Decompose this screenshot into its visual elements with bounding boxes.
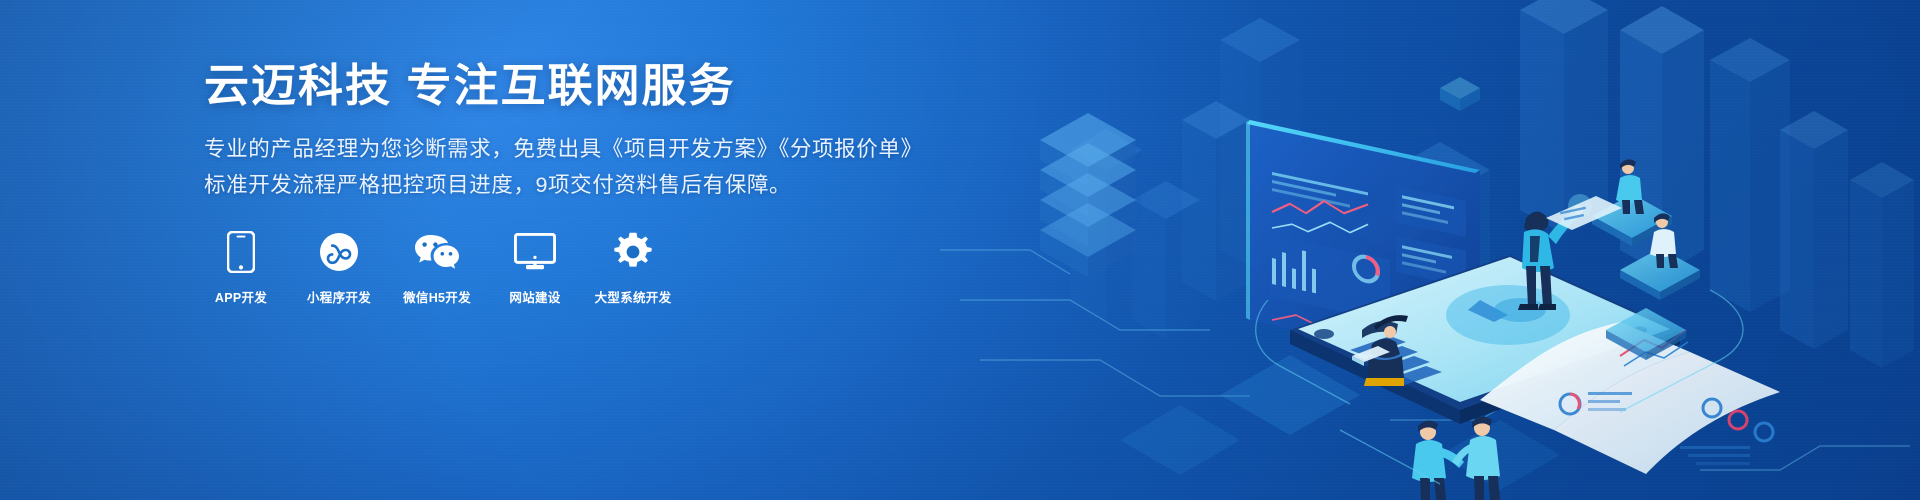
- subtitle-line-2: 标准开发流程严格把控项目进度，9项交付资料售后有保障。: [204, 167, 904, 203]
- smartphone-icon: [227, 229, 255, 275]
- page-title: 云迈科技 专注互联网服务: [204, 62, 904, 109]
- gear-icon: [613, 229, 653, 275]
- subtitle-block: 专业的产品经理为您诊断需求，免费出具《项目开发方案》《分项报价单》 标准开发流程…: [204, 131, 904, 203]
- two-figures: [1412, 416, 1500, 500]
- service-item-website[interactable]: 网站建设: [498, 229, 572, 306]
- mini-program-icon: [319, 229, 359, 275]
- accent-cubes: [1440, 77, 1480, 111]
- subtitle-line-1: 专业的产品经理为您诊断需求，免费出具《项目开发方案》《分项报价单》: [204, 131, 904, 167]
- service-list: APP开发 小程序开发: [204, 229, 904, 306]
- service-item-miniprogram[interactable]: 小程序开发: [302, 229, 376, 306]
- service-label: APP开发: [215, 287, 267, 306]
- service-label: 大型系统开发: [595, 287, 672, 306]
- banner-content: 云迈科技 专注互联网服务 专业的产品经理为您诊断需求，免费出具《项目开发方案》《…: [204, 62, 904, 306]
- wechat-icon: [414, 229, 460, 275]
- service-item-large-system[interactable]: 大型系统开发: [596, 229, 670, 306]
- service-label: 微信H5开发: [403, 287, 471, 306]
- server-stack: [1040, 113, 1136, 277]
- service-item-wechat-h5[interactable]: 微信H5开发: [400, 229, 474, 306]
- monitor-icon: [514, 229, 556, 275]
- hero-banner: 云迈科技 专注互联网服务 专业的产品经理为您诊断需求，免费出具《项目开发方案》《…: [0, 0, 1920, 500]
- service-label: 小程序开发: [307, 287, 371, 306]
- service-item-app[interactable]: APP开发: [204, 229, 278, 306]
- service-label: 网站建设: [509, 287, 560, 306]
- isometric-illustration: [920, 0, 1920, 500]
